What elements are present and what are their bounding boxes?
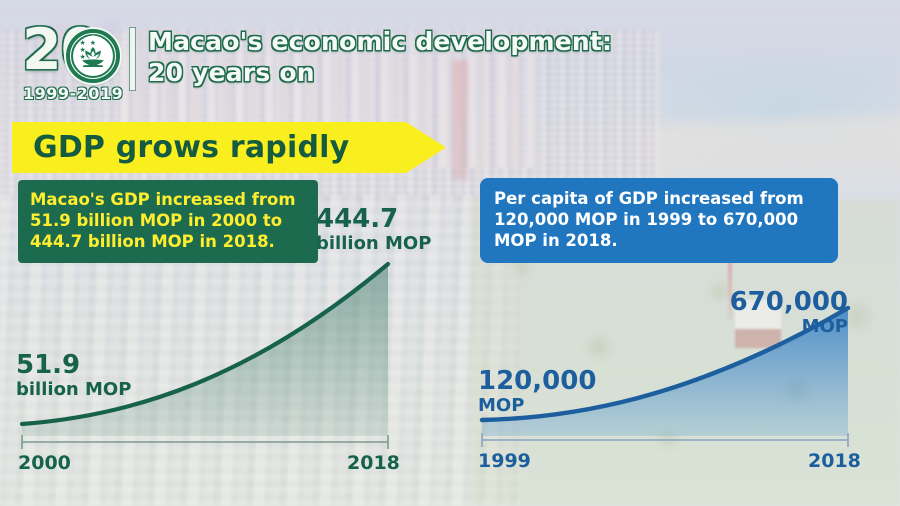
gdp-total-axis-tick-end-label: 2018 [347,452,400,474]
gdp-total-start-unit: billion MOP [16,381,131,400]
gdp-per-capita-end-unit: MOP [706,318,848,337]
gdp-per-capita-end-value: 670,000 [706,289,848,316]
logo-years-text: 1999-2019 [23,84,123,103]
page-title-line2: 20 years on [148,57,612,88]
section-banner-label: GDP grows rapidly [33,130,349,165]
chart-gdp-total-svg [0,240,450,455]
lotus-flower-icon [79,45,107,69]
chart-gdp-per-capita-svg [460,240,900,455]
section-banner: GDP grows rapidly [12,122,446,173]
gdp-total-axis-tick-start-label: 2000 [18,452,71,474]
gdp-per-capita-axis-tick-end-label: 2018 [808,450,861,472]
page-title: Macao's economic development: 20 years o… [148,26,612,88]
header-divider [130,28,135,90]
gdp-total-end-label: 444.7 billion MOP [316,206,431,254]
gdp-total-end-unit: billion MOP [316,235,431,254]
gdp-total-start-value: 51.9 [16,352,131,379]
anniversary-logo: 20 ★ ★ ★ ★ ★ 1999-2019 [22,22,128,110]
page-title-line1: Macao's economic development: [148,26,612,57]
gdp-per-capita-axis-tick-start-label: 1999 [478,450,531,472]
chart-gdp-total [0,240,450,455]
gdp-per-capita-start-value: 120,000 [478,368,596,395]
header: 20 ★ ★ ★ ★ ★ 1999-2019 Macao's economic … [0,0,900,118]
chart-gdp-per-capita [460,240,900,455]
gdp-per-capita-start-unit: MOP [478,397,596,416]
gdp-per-capita-end-label: 670,000 MOP [706,289,848,337]
gdp-total-start-label: 51.9 billion MOP [16,352,131,400]
gdp-per-capita-start-label: 120,000 MOP [478,368,596,416]
gdp-total-end-value: 444.7 [316,206,431,233]
infographic-root: 20 ★ ★ ★ ★ ★ 1999-2019 Macao's economic … [0,0,900,506]
macao-sar-emblem-icon: ★ ★ ★ ★ ★ [66,29,120,83]
